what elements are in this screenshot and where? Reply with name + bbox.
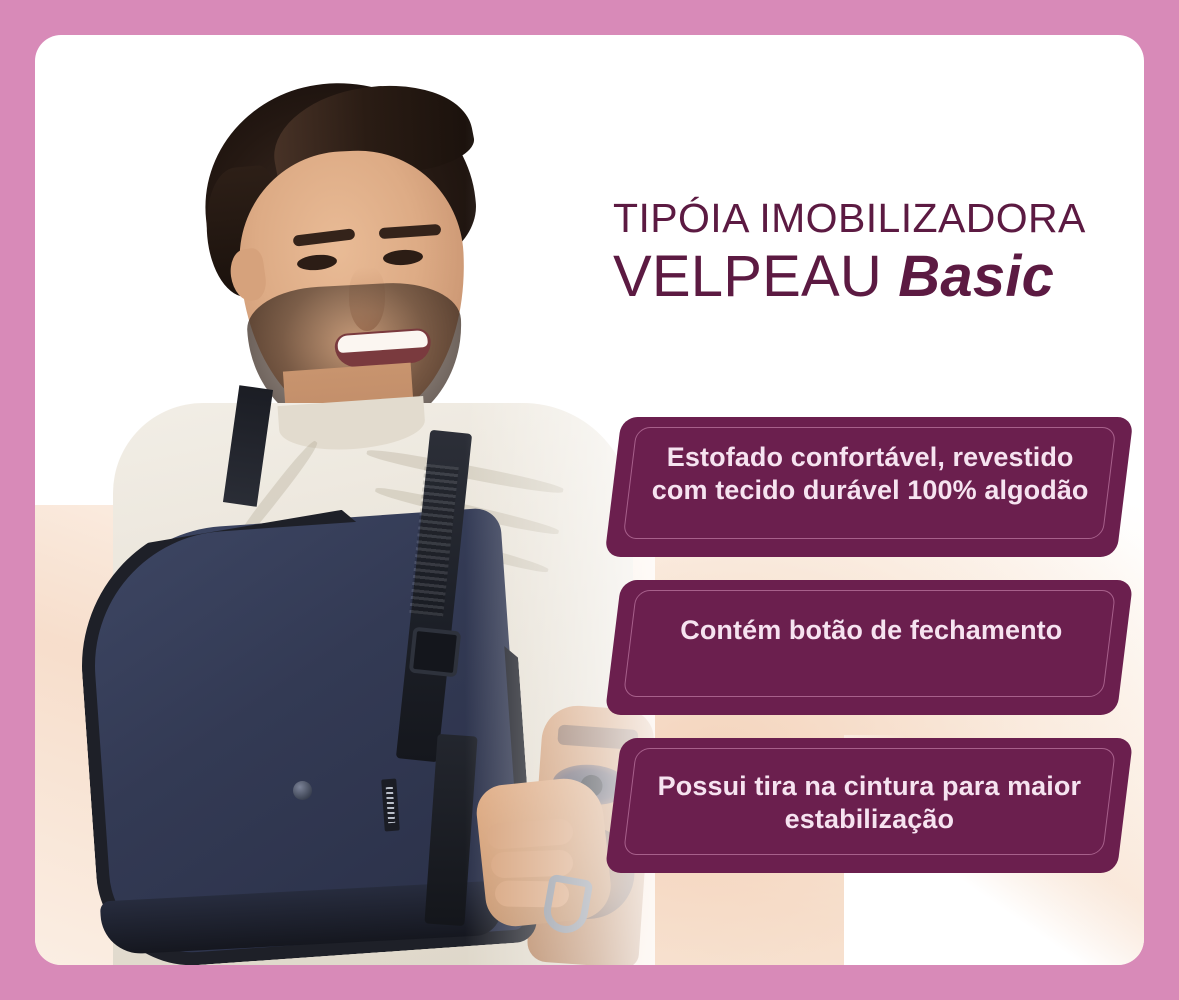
feature-badge-3: Possui tira na cintura para maior estabi… <box>605 738 1134 873</box>
title-line-2: VELPEAU Basic <box>613 246 1133 309</box>
feature-badge-1: Estofado confortável, revestido com teci… <box>604 417 1133 557</box>
finger <box>491 850 574 879</box>
title-line-1: TIPÓIA IMOBILIZADORA <box>613 197 1133 240</box>
model-name: Basic <box>898 244 1054 309</box>
badge-inner: Contém botão de fechamento <box>615 580 1127 677</box>
feature-badge-2: Contém botão de fechamento <box>605 580 1134 715</box>
badge-inner: Estofado confortável, revestido com teci… <box>614 417 1126 538</box>
strap-buckle <box>409 627 462 678</box>
feature-text: Contém botão de fechamento <box>641 614 1101 647</box>
badge-inner: Possui tira na cintura para maior estabi… <box>613 738 1125 867</box>
product-photo <box>35 35 655 965</box>
brand-name: VELPEAU <box>613 244 898 309</box>
product-banner: TIPÓIA IMOBILIZADORA VELPEAU Basic Estof… <box>0 0 1179 1000</box>
page-title: TIPÓIA IMOBILIZADORA VELPEAU Basic <box>613 197 1133 309</box>
closure-button <box>293 781 312 800</box>
teeth <box>337 330 428 353</box>
feature-text: Possui tira na cintura para maior estabi… <box>639 770 1099 837</box>
banner-card: TIPÓIA IMOBILIZADORA VELPEAU Basic Estof… <box>35 35 1144 965</box>
feature-list: Estofado confortável, revestido com teci… <box>613 417 1125 896</box>
feature-text: Estofado confortável, revestido com teci… <box>640 441 1100 508</box>
